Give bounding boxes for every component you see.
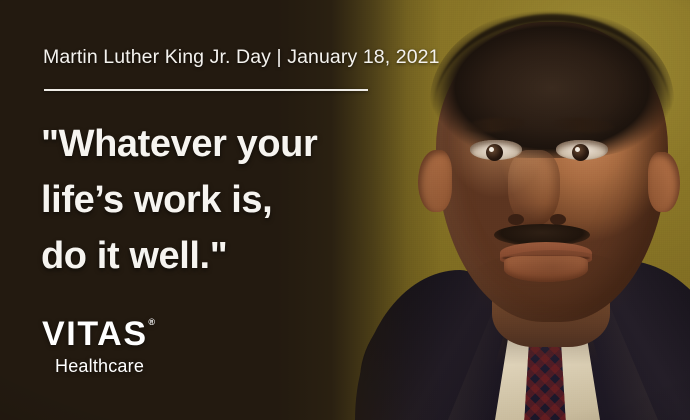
vitas-wordmark-text: VITAS [42,315,148,353]
vitas-wordmark: VITAS ® [42,316,148,352]
banner-content: Martin Luther King Jr. Day | January 18,… [0,0,420,420]
quote-line-2: life’s work is, [41,172,401,228]
quote-block: "Whatever your life’s work is, do it wel… [41,116,401,284]
occasion-date-line: Martin Luther King Jr. Day | January 18,… [43,46,440,69]
registered-trademark-icon: ® [148,318,156,327]
vitas-healthcare-logo: VITAS ® Healthcare [42,316,148,376]
vitas-logo-subtitle: Healthcare [55,356,148,376]
horizontal-divider [44,89,368,91]
quote-line-1: "Whatever your [41,116,401,172]
mlk-day-banner: Martin Luther King Jr. Day | January 18,… [0,0,690,420]
quote-line-3: do it well." [41,228,401,284]
